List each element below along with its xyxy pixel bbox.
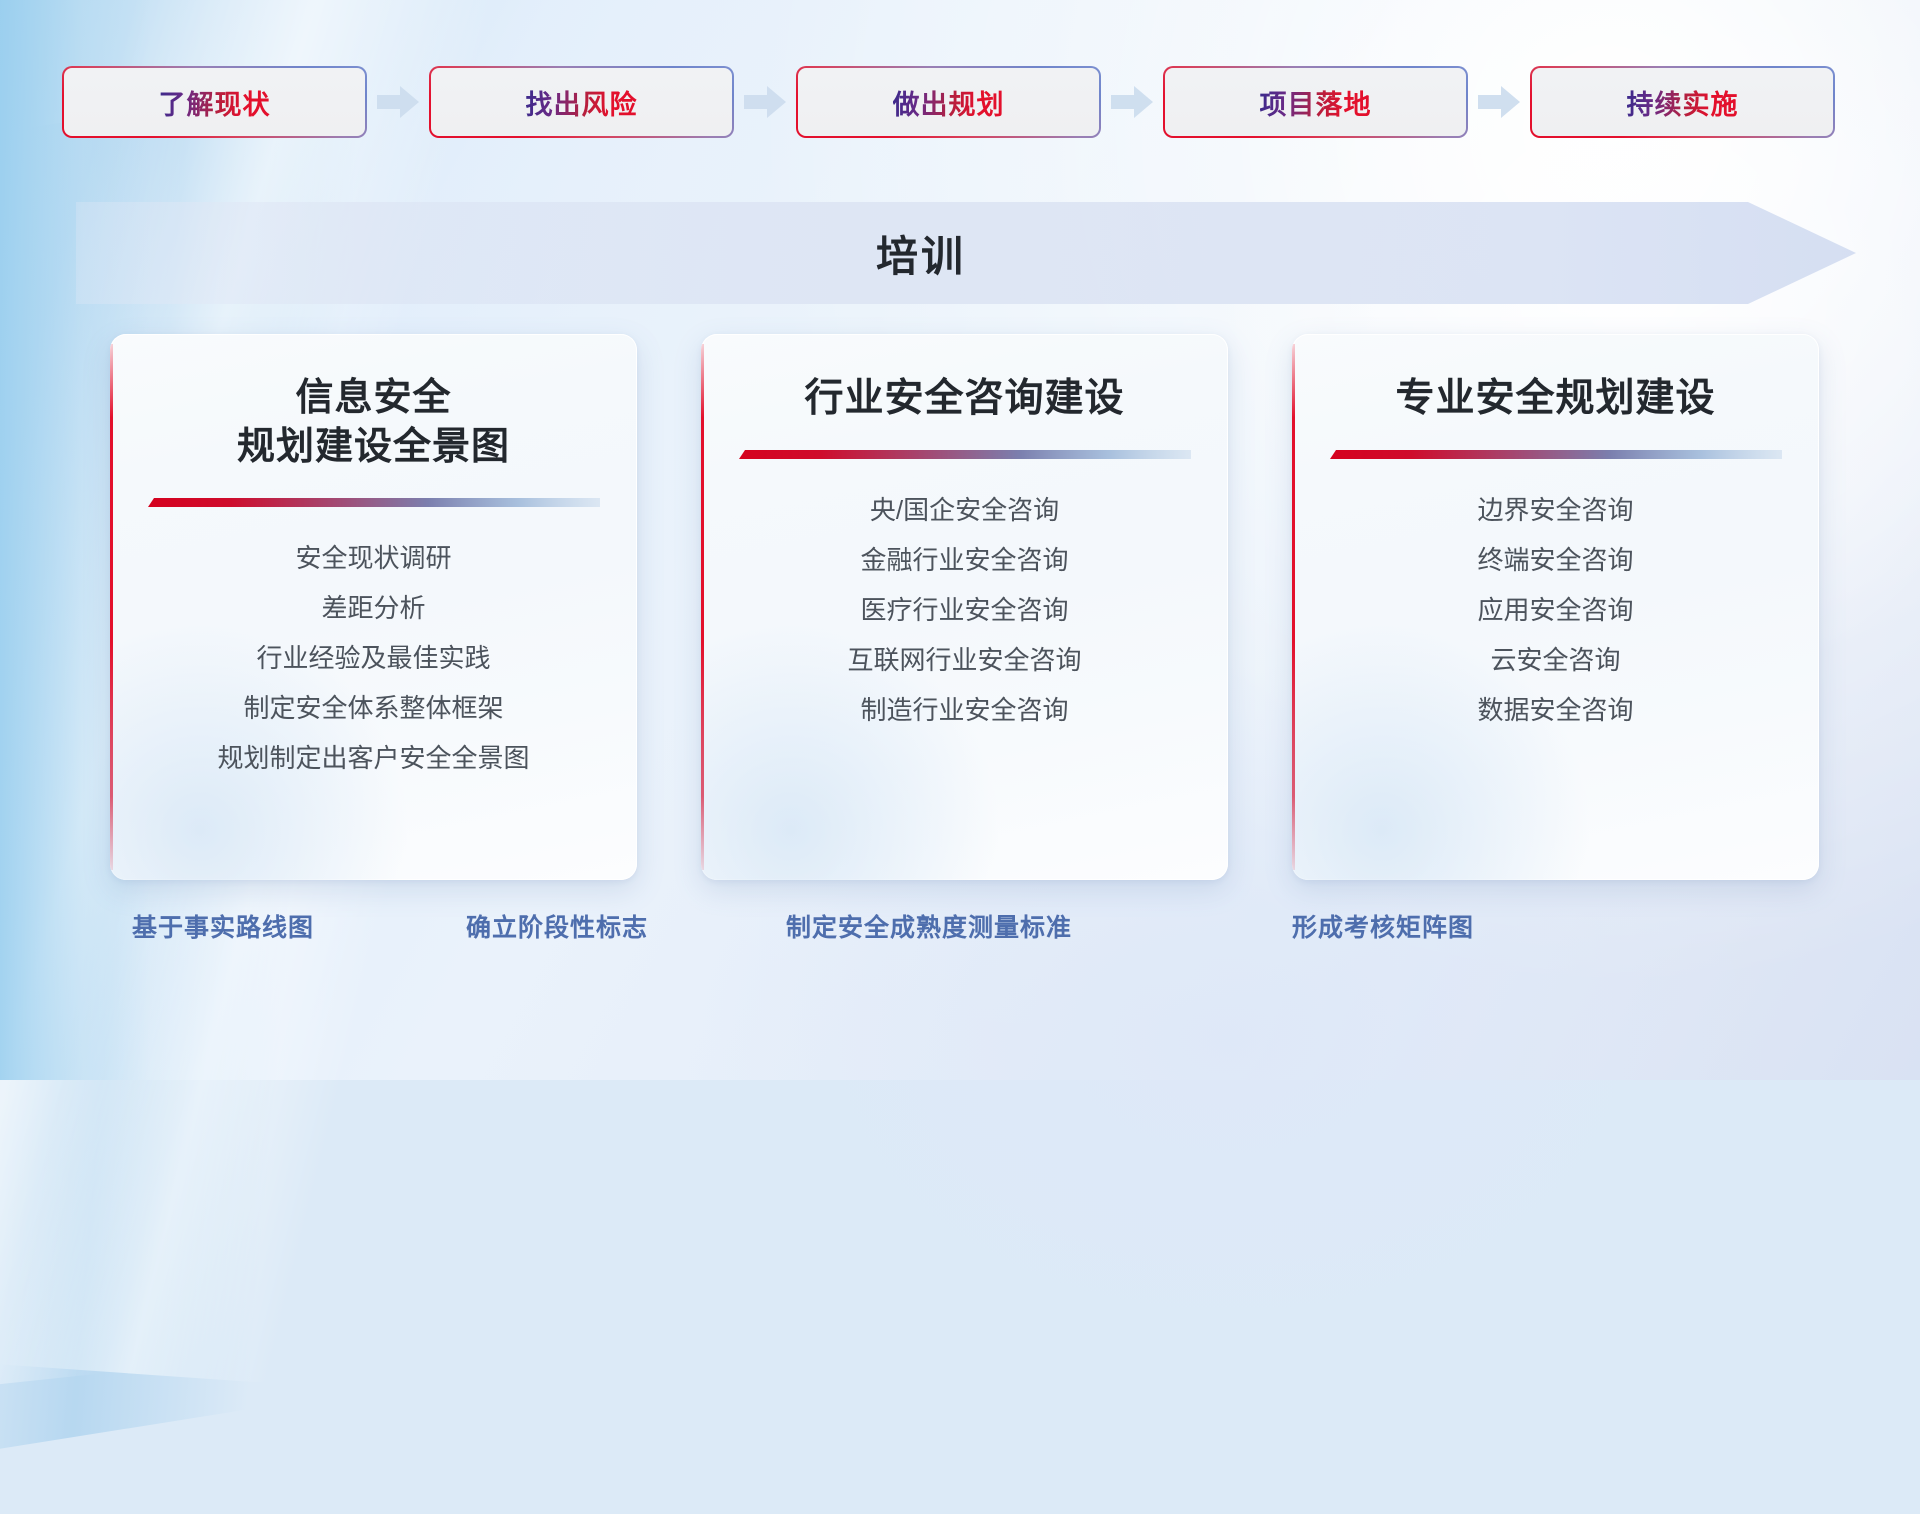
step-box-5[interactable]: 持续实施 <box>1530 66 1835 138</box>
list-item: 互联网行业安全咨询 <box>847 635 1081 685</box>
training-banner: 培训 <box>76 202 1856 304</box>
card-information-security-blueprint[interactable]: 信息安全 规划建设全景图 <box>110 334 637 880</box>
step-box-3[interactable]: 做出规划 <box>796 66 1101 138</box>
card-title: 行业安全咨询建设 <box>804 374 1124 425</box>
caption-milestone: 确立阶段性标志 <box>466 908 648 944</box>
card-list: 边界安全咨询 终端安全咨询 应用安全咨询 云安全咨询 数据安全咨询 <box>1318 485 1793 735</box>
caption-roadmap: 基于事实路线图 <box>132 908 314 944</box>
card-list: 安全现状调研 差距分析 行业经验及最佳实践 制定安全体系整体框架 规划制定出客户… <box>136 533 611 783</box>
list-item: 金融行业安全咨询 <box>860 535 1068 585</box>
list-item: 云安全咨询 <box>1490 635 1620 685</box>
list-item: 安全现状调研 <box>295 533 451 583</box>
card-professional-security-planning[interactable]: 专业安全规划建设 <box>1292 334 1819 880</box>
banner-label: 培训 <box>76 202 1766 304</box>
list-item: 终端安全咨询 <box>1477 535 1633 585</box>
list-item: 医疗行业安全咨询 <box>860 585 1068 635</box>
card-list: 央/国企安全咨询 金融行业安全咨询 医疗行业安全咨询 互联网行业安全咨询 制造行… <box>727 485 1202 735</box>
list-item: 行业经验及最佳实践 <box>256 633 490 683</box>
chevron-right-arrow-icon <box>367 66 429 138</box>
chevron-right-arrow-icon <box>1468 66 1530 138</box>
list-item: 规划制定出客户安全全景图 <box>217 733 529 783</box>
card-title: 专业安全规划建设 <box>1395 374 1715 425</box>
caption-matrix: 形成考核矩阵图 <box>1292 908 1474 944</box>
captions-row: 基于事实路线图 确立阶段性标志 制定安全成熟度测量标准 形成考核矩阵图 <box>0 908 1920 968</box>
step-label: 做出规划 <box>893 83 1005 122</box>
process-steps-row: 了解现状 找出风险 做出规划 项目落地 持续实施 <box>62 66 1857 138</box>
list-item: 央/国企安全咨询 <box>870 485 1059 535</box>
list-item: 数据安全咨询 <box>1477 685 1633 735</box>
step-box-4[interactable]: 项目落地 <box>1163 66 1468 138</box>
caption-maturity: 制定安全成熟度测量标准 <box>786 908 1072 944</box>
list-item: 边界安全咨询 <box>1477 485 1633 535</box>
list-item: 制造行业安全咨询 <box>860 685 1068 735</box>
list-item: 制定安全体系整体框架 <box>243 683 503 733</box>
list-item: 差距分析 <box>321 583 425 633</box>
red-blue-gradient-divider <box>739 449 1191 463</box>
card-title: 信息安全 规划建设全景图 <box>237 374 510 473</box>
red-blue-gradient-divider <box>148 497 600 511</box>
red-blue-gradient-divider <box>1330 449 1782 463</box>
step-label: 了解现状 <box>159 83 271 122</box>
chevron-right-arrow-icon <box>734 66 796 138</box>
step-box-1[interactable]: 了解现状 <box>62 66 367 138</box>
step-label: 持续实施 <box>1627 83 1739 122</box>
list-item: 应用安全咨询 <box>1477 585 1633 635</box>
step-label: 找出风险 <box>526 83 638 122</box>
step-box-2[interactable]: 找出风险 <box>429 66 734 138</box>
cards-row: 信息安全 规划建设全景图 <box>110 334 1820 880</box>
chevron-right-arrow-icon <box>1101 66 1163 138</box>
card-industry-security-consulting[interactable]: 行业安全咨询建设 <box>701 334 1228 880</box>
step-label: 项目落地 <box>1260 83 1372 122</box>
